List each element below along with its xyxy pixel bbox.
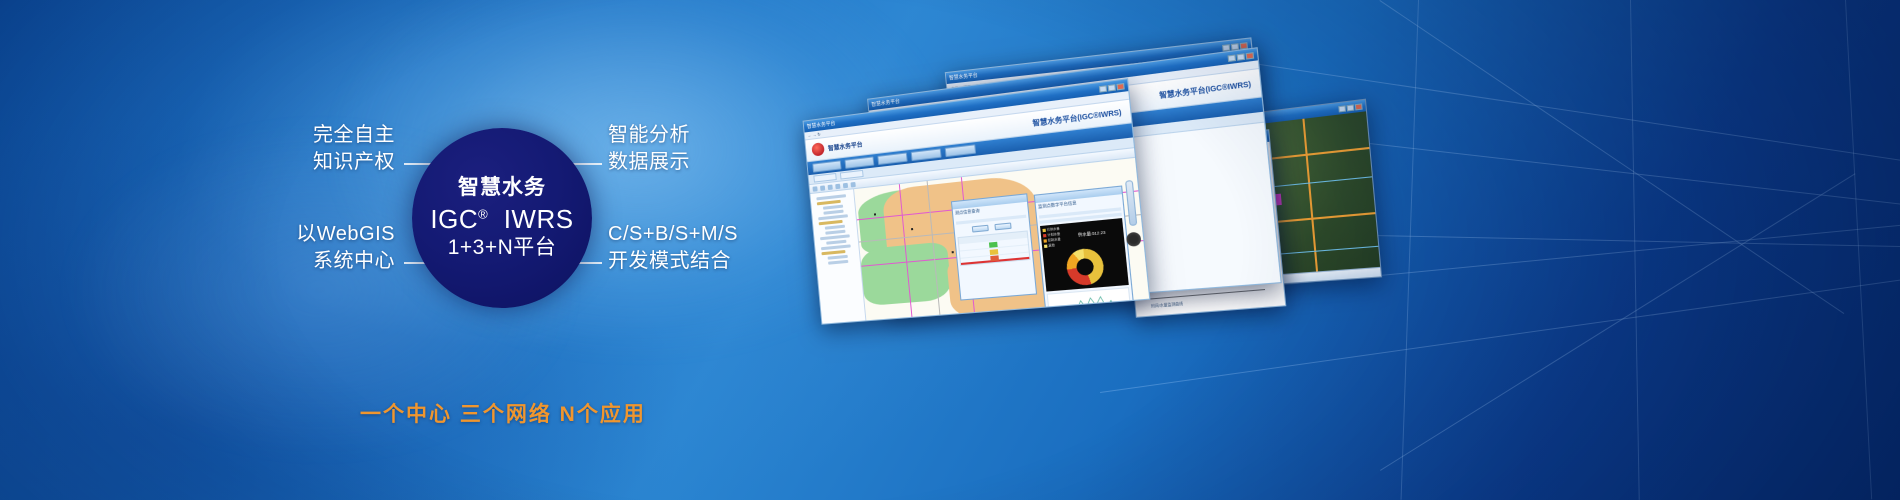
feature-bottom-right-line2: 开发模式结合 (608, 248, 738, 275)
circle-line-2: IGC® IWRS (430, 206, 573, 233)
center-circle: 智慧水务 IGC® IWRS 1+3+N平台 (412, 128, 592, 308)
feature-bottom-right-line1: C/S+B/S+M/S (608, 221, 738, 248)
feature-top-right: 智能分析 数据展示 (608, 122, 690, 176)
feature-top-right-line1: 智能分析 (608, 122, 690, 149)
feature-top-left-line1: 完全自主 (180, 122, 395, 149)
circle-igc-text: IGC (430, 204, 478, 234)
feature-top-left-line2: 知识产权 (180, 149, 395, 176)
registered-mark-icon: ® (478, 206, 488, 221)
tagline: 一个中心 三个网络 N个应用 (360, 398, 646, 428)
banner-stage: 遥感影像地图 数据曲线 趋势分析 (0, 0, 1900, 500)
circle-iwrs-text: IWRS (504, 204, 574, 234)
feature-bottom-left: 以WebGIS 系统中心 (180, 221, 395, 275)
feature-bottom-left-line1: 以WebGIS (180, 221, 395, 248)
circle-line-1: 智慧水务 (458, 177, 546, 199)
feature-top-left: 完全自主 知识产权 (180, 122, 395, 176)
circle-line-3: 1+3+N平台 (448, 237, 557, 259)
feature-bottom-right: C/S+B/S+M/S 开发模式结合 (608, 221, 738, 275)
feature-bottom-left-line2: 系统中心 (180, 248, 395, 275)
feature-top-right-line2: 数据展示 (608, 149, 690, 176)
